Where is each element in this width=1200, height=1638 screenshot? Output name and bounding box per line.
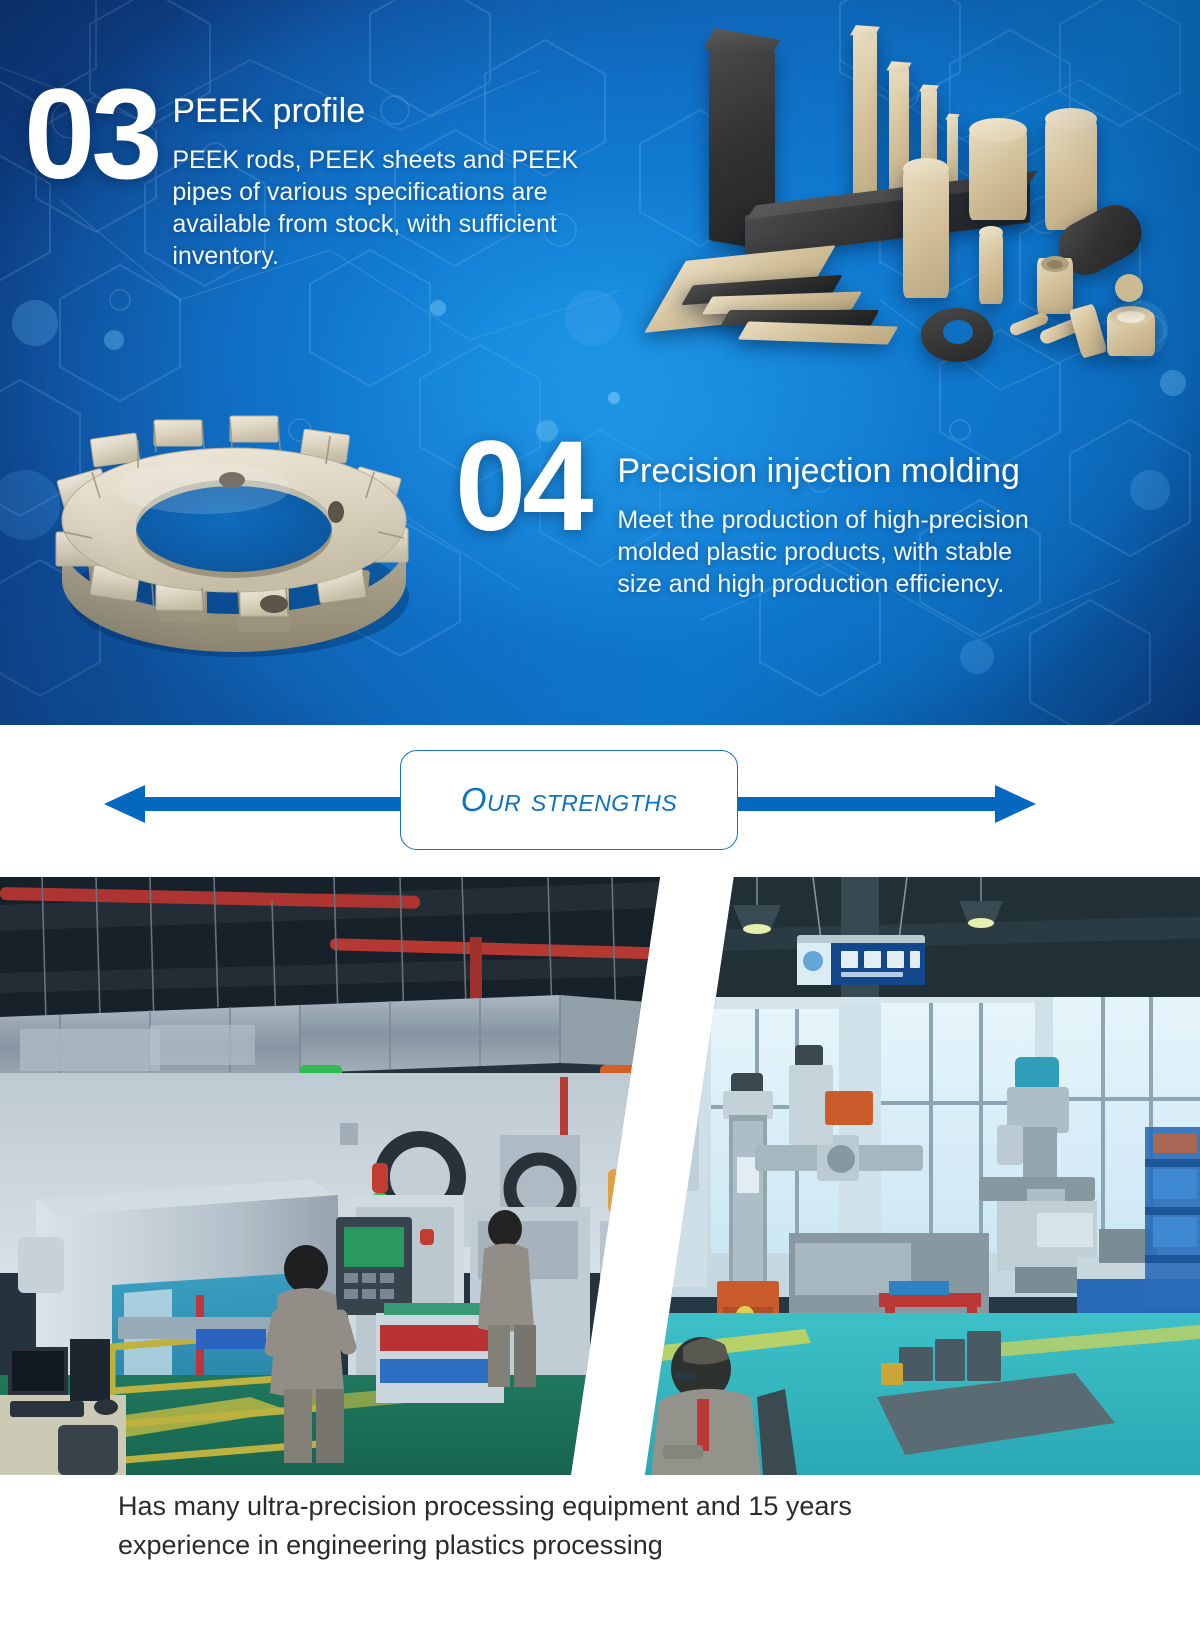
feature-title-04: Precision injection molding xyxy=(617,452,1037,490)
our-strengths-badge: Our strengths xyxy=(400,750,738,850)
workshop-caption: Has many ultra-precision processing equi… xyxy=(0,1487,1200,1565)
precision-molding-product-image xyxy=(34,392,434,668)
feature-number-03: 03 xyxy=(24,76,158,194)
caption-line-1: Has many ultra-precision processing equi… xyxy=(118,1487,1082,1526)
feature-block-03: 03 PEEK profile PEEK rods, PEEK sheets a… xyxy=(24,76,664,272)
workshop-photo-pair xyxy=(0,877,1200,1475)
feature-number-04: 04 xyxy=(455,428,589,546)
photo-mold-workshop xyxy=(645,877,1200,1475)
feature-block-04: 04 Precision injection molding Meet the … xyxy=(455,428,1155,600)
feature-body-03: PEEK rods, PEEK sheets and PEEK pipes of… xyxy=(172,144,602,272)
feature-title-03: PEEK profile xyxy=(172,92,602,130)
feature-body-04: Meet the production of high-precision mo… xyxy=(617,504,1037,600)
peek-profile-product-image xyxy=(625,18,1185,368)
hero-banner: 03 PEEK profile PEEK rods, PEEK sheets a… xyxy=(0,0,1200,725)
our-strengths-label: Our strengths xyxy=(461,781,677,819)
photo-cnc-workshop xyxy=(0,877,660,1475)
caption-line-2: experience in engineering plastics proce… xyxy=(118,1526,1082,1565)
